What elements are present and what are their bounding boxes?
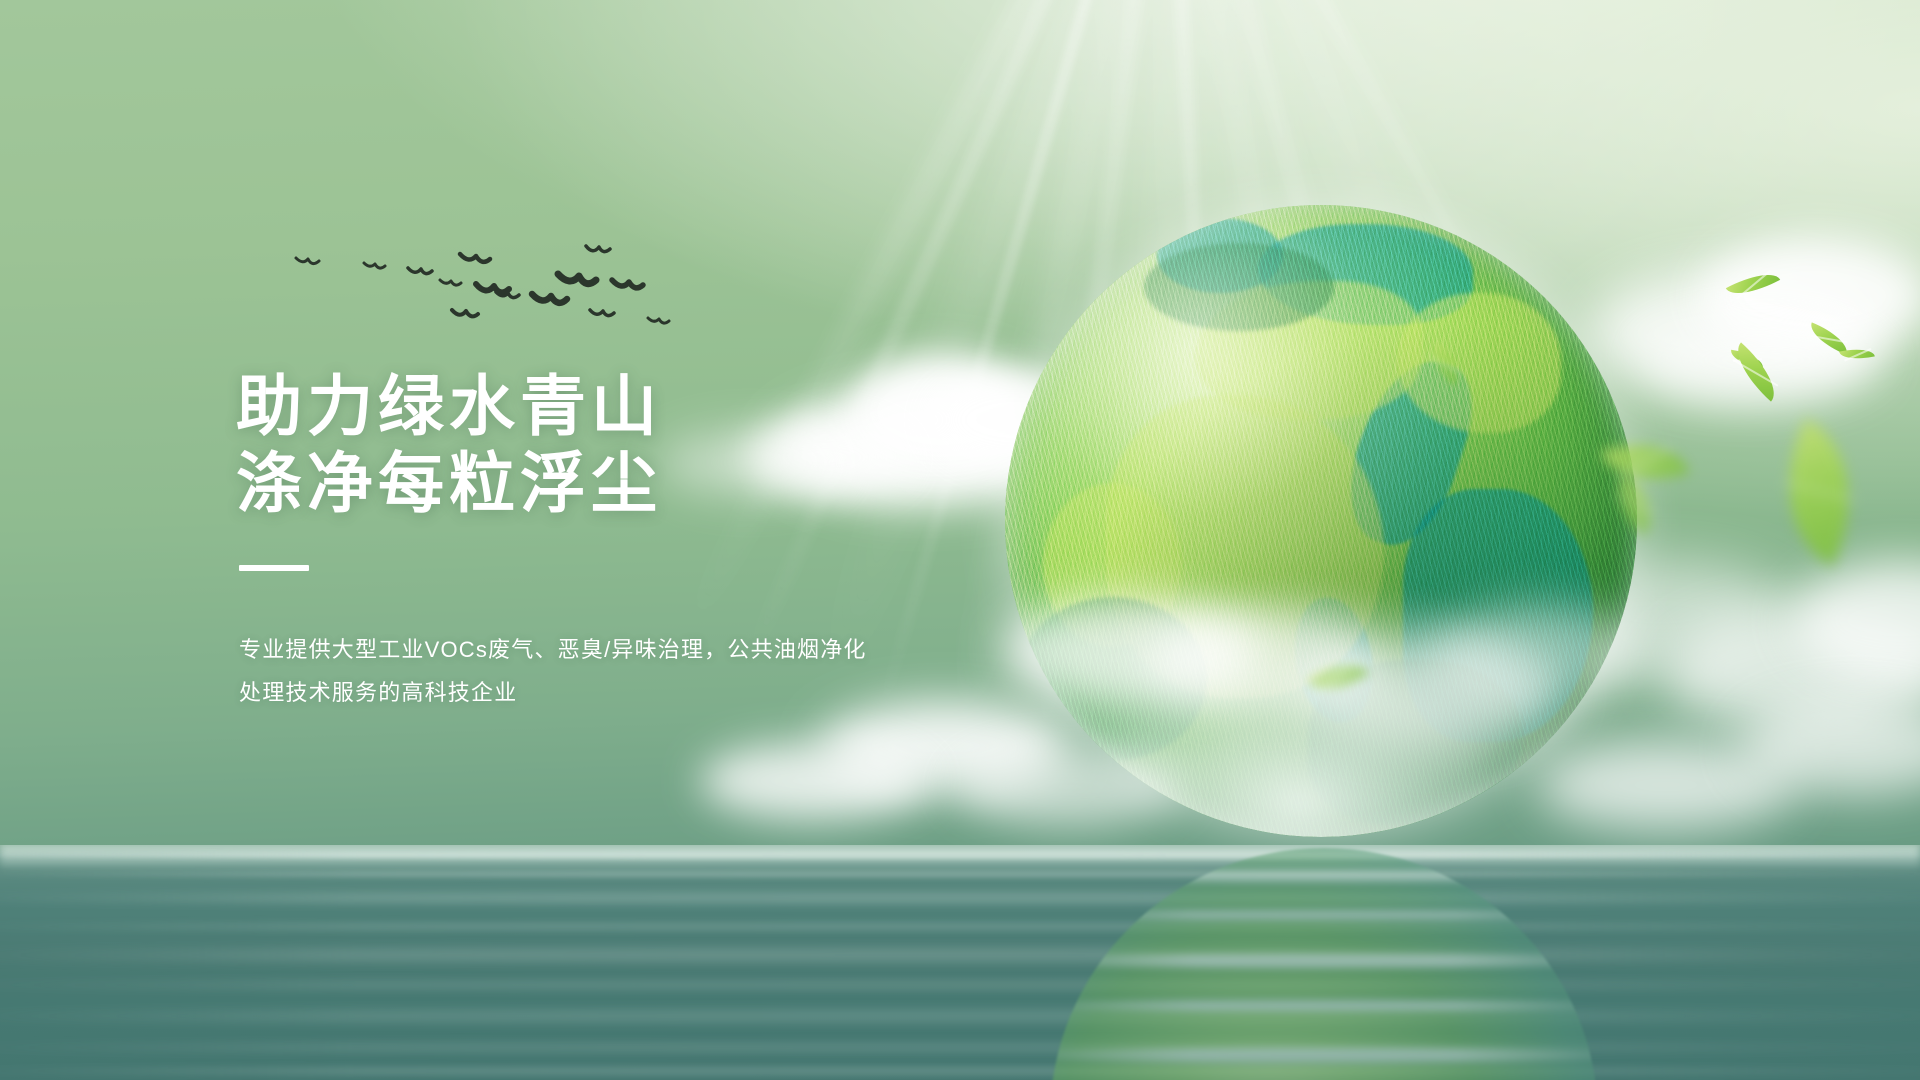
globe-rim-light <box>1005 205 1637 837</box>
hero-copy: 助力绿水青山 涤净每粒浮尘 专业提供大型工业VOCs废气、恶臭/异味治理，公共油… <box>236 368 956 715</box>
birds-icon <box>290 236 720 346</box>
water-surface <box>0 845 1920 1080</box>
hero-subtitle: 专业提供大型工业VOCs废气、恶臭/异味治理，公共油烟净化处理技术服务的高科技企… <box>239 629 889 715</box>
hero-banner: 助力绿水青山 涤净每粒浮尘 专业提供大型工业VOCs废气、恶臭/异味治理，公共油… <box>0 0 1920 1080</box>
earth-globe <box>1005 205 1637 837</box>
title-divider <box>239 565 309 571</box>
headline-line-1: 助力绿水青山 <box>236 369 662 443</box>
page-title: 助力绿水青山 涤净每粒浮尘 <box>236 368 956 521</box>
headline-line-2: 涤净每粒浮尘 <box>236 446 662 520</box>
bird-flock <box>290 236 720 346</box>
